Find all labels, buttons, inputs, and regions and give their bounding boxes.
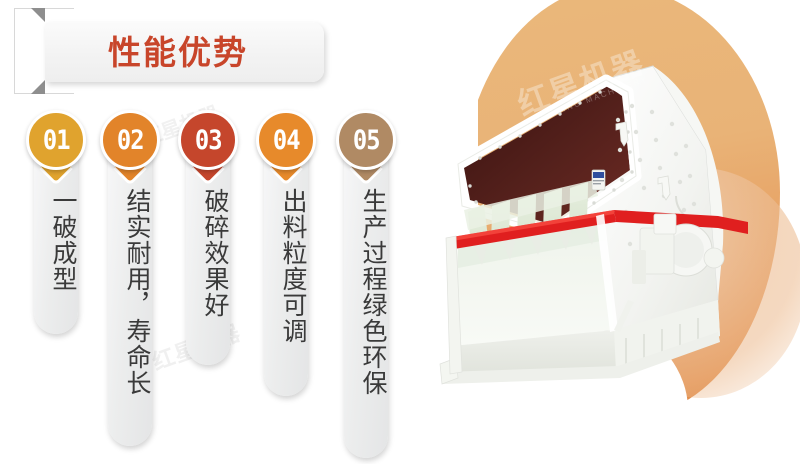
feature-number: 05 — [353, 127, 380, 154]
product-photo: 红星机器 HONGXING MACHINERY — [418, 0, 800, 464]
feature-card-label: 出料粒度可调 — [264, 188, 308, 360]
feature-number: 03 — [195, 127, 222, 154]
feature-card-pin: 01 — [26, 110, 86, 186]
feature-card-pin: 04 — [256, 110, 316, 186]
page-title: 性能优势 — [108, 36, 248, 69]
feature-card-label: 结实耐用，寿命长 — [108, 188, 152, 412]
feature-card-pin: 05 — [336, 110, 396, 186]
feature-number: 04 — [273, 127, 300, 154]
feature-card-label: 生产过程绿色环保 — [344, 188, 388, 412]
pin-circle-icon: 05 — [336, 110, 396, 170]
pin-circle-icon: 02 — [100, 110, 160, 170]
feature-card-label: 一破成型 — [34, 188, 78, 308]
pin-circle-icon: 01 — [26, 110, 86, 170]
ribbon-fold-top-icon — [31, 8, 45, 22]
title-ribbon: 性能优势 — [14, 8, 324, 94]
feature-card-label: 破碎效果好 — [186, 188, 230, 334]
feature-card-pin: 03 — [178, 110, 238, 186]
promo-banner-canvas: 性能优势 一破成型 01 结实耐用，寿命长 02 — [0, 0, 800, 464]
feature-card-pin: 02 — [100, 110, 160, 186]
feature-card-list: 一破成型 01 结实耐用，寿命长 02 破碎效果好 — [26, 110, 406, 455]
pin-circle-icon: 04 — [256, 110, 316, 170]
ribbon-fold-bottom-icon — [31, 80, 45, 94]
pin-circle-icon: 03 — [178, 110, 238, 170]
feature-number: 01 — [43, 127, 70, 154]
feature-number: 02 — [117, 127, 144, 154]
ribbon-body: 性能优势 — [45, 22, 324, 82]
